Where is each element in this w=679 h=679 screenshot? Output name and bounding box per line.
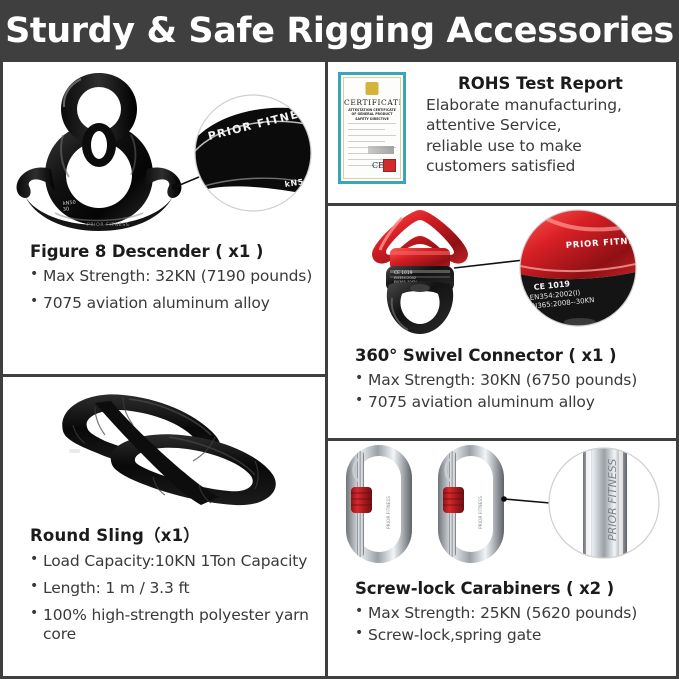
list-item: Max Strength: 30KN (6750 pounds)	[355, 371, 673, 390]
rohs-title: ROHS Test Report	[458, 74, 623, 93]
figure-8-descender-photo: kN50 30 PRIOR FITNESS PRIOR FITNESS kN50	[3, 65, 325, 233]
rohs-text-block: ROHS Test Report Elaborate manufacturing…	[426, 72, 623, 177]
rohs-line: Elaborate manufacturing,	[426, 95, 623, 115]
list-item: Screw-lock,spring gate	[355, 626, 673, 645]
carabiner-title: Screw-lock Carabiners ( x2 )	[355, 579, 673, 598]
certificate-subheading: ATTESTATION CERTIFICATE OF GENERAL PRODU…	[344, 108, 400, 121]
list-item: Length: 1 m / 3.3 ft	[30, 579, 326, 598]
svg-text:30: 30	[63, 206, 70, 213]
panel-rohs-test-report: CERTIFICATE ATTESTATION CERTIFICATE OF G…	[328, 65, 676, 203]
carabiner-callout-brand: PRIOR FITNESS	[606, 459, 619, 541]
swivel-title: 360° Swivel Connector ( x1 )	[355, 346, 673, 365]
product-infographic: Sturdy & Safe Rigging Accessories	[0, 0, 679, 679]
svg-text:PRIOR FITNESS: PRIOR FITNESS	[478, 496, 484, 529]
list-item: 100% high-strength polyester yarn core	[30, 606, 326, 644]
panel-figure-8-descender: kN50 30 PRIOR FITNESS PRIOR FITNESS kN50…	[3, 65, 325, 374]
rohs-line: reliable use to make	[426, 136, 623, 156]
swivel-connector-photo: CE 1019 EN354:2002 EN365-30KN PRIOR FITN…	[328, 206, 676, 338]
certificate-signature	[368, 146, 394, 154]
list-item: Load Capacity:10KN 1Ton Capacity	[30, 552, 326, 571]
panel-swivel-connector: CE 1019 EN354:2002 EN365-30KN PRIOR FITN…	[328, 206, 676, 438]
certificate-heading: CERTIFICATE	[344, 98, 400, 107]
screw-lock-sleeve	[351, 487, 372, 513]
figure-8-title: Figure 8 Descender ( x1 )	[30, 242, 322, 261]
panel-round-sling: Round Sling（x1） Load Capacity:10KN 1Ton …	[3, 377, 325, 676]
header-bar: Sturdy & Safe Rigging Accessories	[0, 0, 679, 62]
carabiner-bullets: Max Strength: 25KN (5620 pounds) Screw-l…	[355, 604, 673, 645]
rohs-content-row: CERTIFICATE ATTESTATION CERTIFICATE OF G…	[338, 72, 676, 197]
list-item: Max Strength: 25KN (5620 pounds)	[355, 604, 673, 623]
swivel-bullets: Max Strength: 30KN (6750 pounds) 7075 av…	[355, 371, 673, 412]
swivel-text-block: 360° Swivel Connector ( x1 ) Max Strengt…	[355, 346, 673, 415]
sling-bullets: Load Capacity:10KN 1Ton Capacity Length:…	[30, 552, 326, 644]
sling-text-block: Round Sling（x1） Load Capacity:10KN 1Ton …	[30, 522, 326, 652]
list-item: 7075 aviation aluminum alloy	[30, 294, 322, 313]
certificate-seal-icon	[366, 82, 379, 95]
rohs-line: attentive Service,	[426, 115, 623, 135]
page-title: Sturdy & Safe Rigging Accessories	[5, 11, 674, 51]
list-item: Max Strength: 32KN (7190 pounds)	[30, 267, 322, 286]
figure-8-text-block: Figure 8 Descender ( x1 ) Max Strength: …	[30, 242, 322, 321]
certificate-red-mark-icon	[383, 159, 396, 172]
panel-screw-lock-carabiners: PRIOR FITNESS PRIOR FITNESS	[328, 441, 676, 676]
sling-title: Round Sling（x1）	[30, 522, 326, 546]
round-sling-photo	[3, 377, 325, 517]
svg-text:PRIOR FITNESS: PRIOR FITNESS	[87, 222, 129, 228]
rohs-line: customers satisfied	[426, 156, 623, 176]
figure-8-bullets: Max Strength: 32KN (7190 pounds) 7075 av…	[30, 267, 322, 313]
certificate-thumbnail: CERTIFICATE ATTESTATION CERTIFICATE OF G…	[338, 72, 406, 184]
carabiner-text-block: Screw-lock Carabiners ( x2 ) Max Strengt…	[355, 579, 673, 648]
screw-lock-carabiners-photo: PRIOR FITNESS PRIOR FITNESS	[328, 441, 676, 571]
list-item: 7075 aviation aluminum alloy	[355, 393, 673, 412]
svg-text:PRIOR FITNESS: PRIOR FITNESS	[386, 496, 392, 529]
